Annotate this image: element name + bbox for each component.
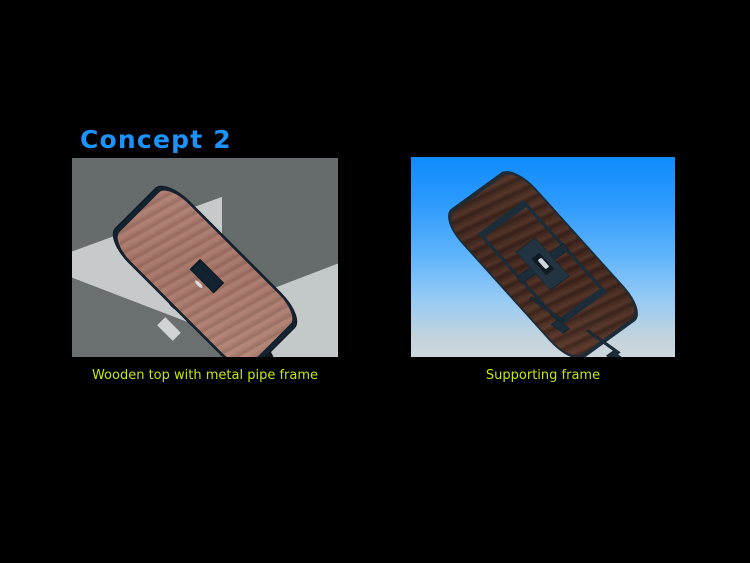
figure-caption-wooden-top: Wooden top with metal pipe frame (72, 369, 338, 382)
table-underside-model (439, 163, 648, 357)
figure-supporting-frame: Supporting frame (0, 0, 264, 200)
support-frame-bracket-tab-1 (607, 351, 624, 357)
slide-canvas: Concept 2 Wooden top with metal pipe fra… (0, 0, 750, 563)
render-image-supporting-frame (411, 157, 675, 357)
figure-caption-supporting-frame: Supporting frame (411, 369, 675, 382)
